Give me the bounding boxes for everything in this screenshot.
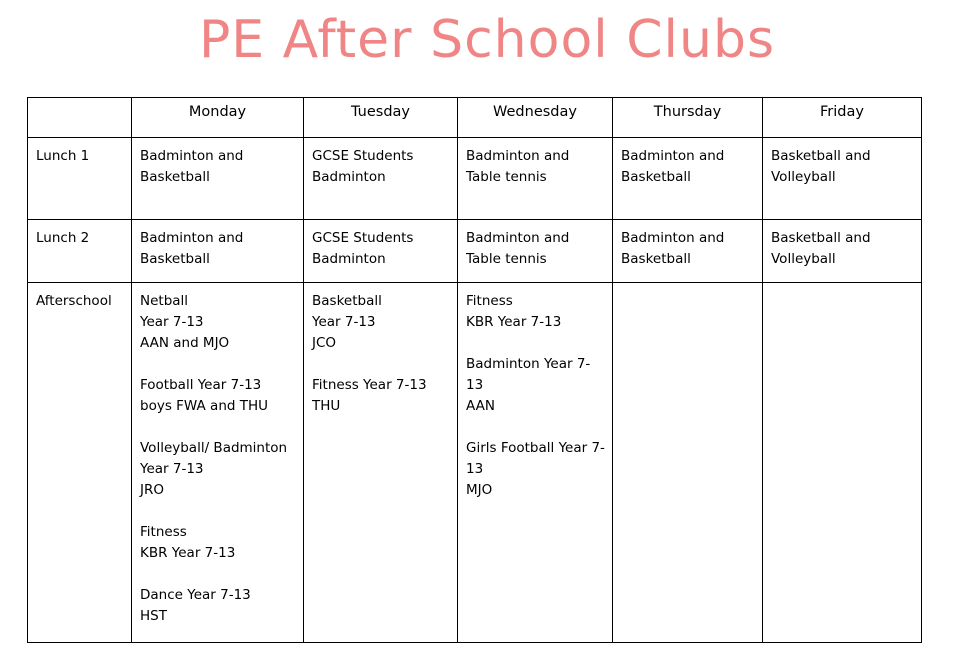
cell-lunch-2-tuesday: GCSE Students Badminton [304, 220, 458, 283]
cell-lunch-1-wednesday-text: Badminton and Table tennis [458, 138, 612, 194]
cell-lunch-1-tuesday-text: GCSE Students Badminton [304, 138, 457, 194]
cell-lunch-2-monday-text: Badminton and Basketball [132, 220, 303, 276]
cell-afterschool-thursday [613, 283, 763, 643]
column-header-friday-label: Friday [763, 98, 921, 125]
cell-lunch-2-friday-text: Basketball and Volleyball [763, 220, 921, 276]
cell-lunch-1-monday-text: Badminton and Basketball [132, 138, 303, 194]
column-header-monday: Monday [132, 98, 304, 138]
cell-lunch-1-thursday: Badminton and Basketball [613, 138, 763, 220]
cell-lunch-1-tuesday: GCSE Students Badminton [304, 138, 458, 220]
cell-afterschool-wednesday-text: Fitness KBR Year 7-13 Badminton Year 7-1… [458, 283, 612, 507]
cell-afterschool-friday [763, 283, 922, 643]
table-header-row: Monday Tuesday Wednesday Thursday Friday [28, 98, 922, 138]
clubs-schedule-table: Monday Tuesday Wednesday Thursday Friday [27, 97, 922, 643]
column-header-monday-label: Monday [132, 98, 303, 125]
row-label-lunch-1: Lunch 1 [28, 138, 132, 220]
cell-afterschool-tuesday: Basketball Year 7-13 JCO Fitness Year 7-… [304, 283, 458, 643]
column-header-wednesday: Wednesday [458, 98, 613, 138]
table-row-lunch-2: Lunch 2 Badminton and Basketball GCSE St… [28, 220, 922, 283]
cell-afterschool-monday: Netball Year 7-13 AAN and MJO Football Y… [132, 283, 304, 643]
cell-lunch-2-tuesday-text: GCSE Students Badminton [304, 220, 457, 276]
page-title: PE After School Clubs [0, 2, 974, 78]
cell-afterschool-monday-text: Netball Year 7-13 AAN and MJO Football Y… [132, 283, 303, 633]
row-label-afterschool: Afterschool [28, 283, 132, 643]
cell-lunch-2-wednesday-text: Badminton and Table tennis [458, 220, 612, 276]
cell-lunch-2-thursday-text: Badminton and Basketball [613, 220, 762, 276]
cell-lunch-1-wednesday: Badminton and Table tennis [458, 138, 613, 220]
cell-lunch-1-thursday-text: Badminton and Basketball [613, 138, 762, 194]
cell-afterschool-friday-text [763, 283, 921, 297]
cell-lunch-1-monday: Badminton and Basketball [132, 138, 304, 220]
header-corner-cell [28, 98, 132, 138]
header-corner-label [28, 98, 131, 137]
cell-lunch-2-wednesday: Badminton and Table tennis [458, 220, 613, 283]
cell-lunch-1-friday: Basketball and Volleyball [763, 138, 922, 220]
table-row-lunch-1: Lunch 1 Badminton and Basketball GCSE St… [28, 138, 922, 220]
cell-afterschool-wednesday: Fitness KBR Year 7-13 Badminton Year 7-1… [458, 283, 613, 643]
table-row-afterschool: Afterschool Netball Year 7-13 AAN and MJ… [28, 283, 922, 643]
column-header-thursday: Thursday [613, 98, 763, 138]
cell-lunch-1-friday-text: Basketball and Volleyball [763, 138, 921, 194]
cell-lunch-2-monday: Badminton and Basketball [132, 220, 304, 283]
row-label-lunch-2-text: Lunch 2 [28, 220, 131, 255]
row-label-lunch-2: Lunch 2 [28, 220, 132, 283]
column-header-tuesday: Tuesday [304, 98, 458, 138]
column-header-wednesday-label: Wednesday [458, 98, 612, 125]
cell-lunch-2-thursday: Badminton and Basketball [613, 220, 763, 283]
column-header-friday: Friday [763, 98, 922, 138]
row-label-lunch-1-text: Lunch 1 [28, 138, 131, 173]
page-root: PE After School Clubs Monday [0, 0, 974, 663]
column-header-tuesday-label: Tuesday [304, 98, 457, 125]
cell-afterschool-thursday-text [613, 283, 762, 297]
schedule-table-container: Monday Tuesday Wednesday Thursday Friday [27, 97, 921, 643]
row-label-afterschool-text: Afterschool [28, 283, 131, 318]
column-header-thursday-label: Thursday [613, 98, 762, 125]
cell-lunch-2-friday: Basketball and Volleyball [763, 220, 922, 283]
cell-afterschool-tuesday-text: Basketball Year 7-13 JCO Fitness Year 7-… [304, 283, 457, 423]
